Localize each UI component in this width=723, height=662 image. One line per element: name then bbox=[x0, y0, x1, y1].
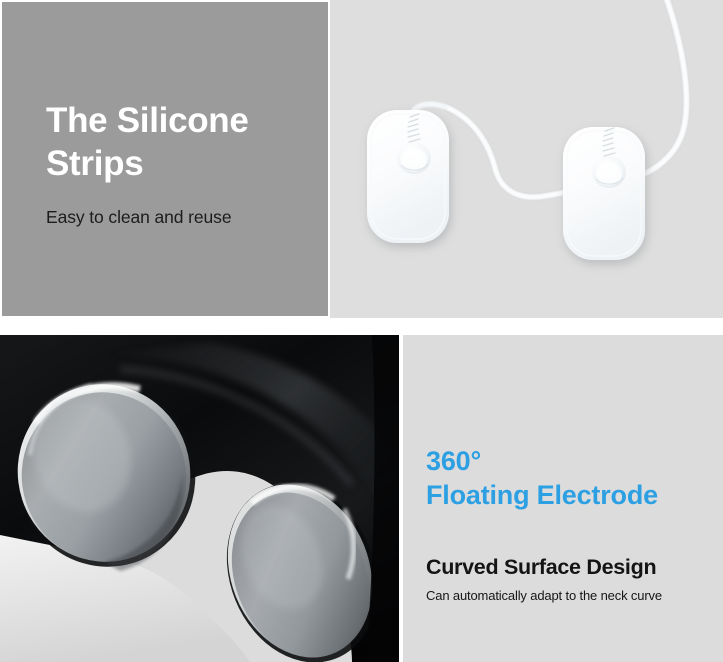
floating-electrode-section: 360° Floating Electrode Curved Surface D… bbox=[0, 335, 723, 662]
electrode-pad-left bbox=[367, 110, 449, 243]
electrode-pads-illustration bbox=[330, 0, 723, 318]
floating-electrode-copy-block: 360° Floating Electrode Curved Surface D… bbox=[426, 445, 723, 603]
floating-electrode-text-panel: 360° Floating Electrode Curved Surface D… bbox=[403, 335, 723, 662]
silicone-strips-copy-block: The Silicone Strips Easy to clean and re… bbox=[46, 100, 316, 228]
section-divider bbox=[0, 318, 723, 335]
silicone-strips-subtitle: Easy to clean and reuse bbox=[46, 207, 316, 228]
silicone-strips-text-panel: The Silicone Strips Easy to clean and re… bbox=[2, 2, 328, 316]
floating-electrode-illustration bbox=[0, 335, 399, 662]
electrode-pad-right bbox=[563, 127, 645, 260]
electrode-pads-photo-panel bbox=[330, 0, 723, 318]
product-feature-banner: The Silicone Strips Easy to clean and re… bbox=[0, 0, 723, 662]
floating-electrode-photo-panel bbox=[0, 335, 399, 662]
curved-surface-design-note: Can automatically adapt to the neck curv… bbox=[426, 588, 723, 603]
silicone-strips-title: The Silicone Strips bbox=[46, 100, 316, 185]
floating-electrode-title: 360° Floating Electrode bbox=[426, 445, 723, 513]
silicone-strips-section: The Silicone Strips Easy to clean and re… bbox=[0, 0, 723, 318]
curved-surface-design-subtitle: Curved Surface Design bbox=[426, 555, 723, 580]
